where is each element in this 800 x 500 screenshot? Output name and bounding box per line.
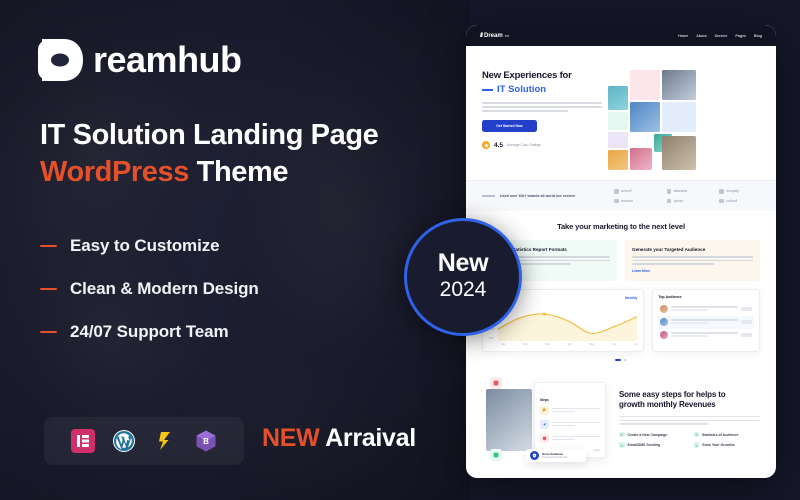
mockup-logo-cloud: Used over 10k+ brands all world our serv…	[466, 180, 776, 211]
rating-value: 4.5	[494, 142, 503, 149]
mockup-logo-text: Dream	[484, 33, 503, 39]
brand-grid: unicef takealot shopify nutone ipsite un…	[614, 189, 760, 203]
x-tick: Mar	[545, 343, 549, 346]
mockup-hero-paragraph	[482, 102, 602, 112]
headline-line-2: WordPress Theme	[40, 153, 450, 192]
flag-icon	[540, 406, 549, 415]
carousel-dot[interactable]	[624, 359, 627, 362]
marketing-cards: Audience Statistics Report Formats Learn…	[482, 240, 760, 281]
new-badge-top-text: New	[438, 250, 489, 276]
elementor-icon	[71, 429, 95, 453]
new-arraival-highlight: NEW	[262, 424, 319, 452]
mockup-logo-trademark: TM	[505, 34, 509, 38]
star-icon	[482, 141, 490, 149]
mosaic-color-tile	[608, 112, 628, 130]
get-started-button[interactable]: Get Started Now	[482, 120, 537, 132]
nav-item-about[interactable]: About	[696, 34, 706, 38]
feature-item: Clean & Modern Design	[40, 279, 259, 299]
feature-list: Easy to Customize Clean & Modern Design …	[40, 236, 259, 365]
wordpress-icon	[112, 429, 136, 453]
bootstrap-icon: B	[194, 429, 218, 453]
carousel-dot-active[interactable]	[615, 359, 621, 362]
mosaic-photo-tile	[630, 148, 652, 170]
chart-period-menu[interactable]: Monthly	[625, 296, 637, 300]
dreamhub-d-mark-icon	[38, 36, 84, 84]
nav-item-pages[interactable]: Pages	[735, 34, 746, 38]
poster-headline: IT Solution Landing Page WordPress Theme	[40, 118, 450, 192]
top-audience-card: Top Audience	[652, 289, 760, 352]
avatar	[660, 318, 668, 326]
y-tick: 500	[489, 338, 495, 341]
avatar	[660, 305, 668, 313]
checklist-label: Grow Your Growths	[702, 443, 735, 447]
x-tick: Jan	[501, 343, 505, 346]
brand-label: shopify	[726, 189, 739, 193]
mockup-hero-title-1: New Experiences for	[482, 70, 602, 82]
mockup-steps-section: Steps more	[466, 369, 776, 473]
get-started-label: Get Started Now	[496, 124, 522, 128]
audience-item-lines	[671, 332, 738, 338]
x-tick: Jul	[634, 343, 637, 346]
mockup-hero-left: New Experiences for IT Solution Get Star…	[482, 60, 602, 172]
feature-label: 24/07 Support Team	[70, 322, 229, 342]
feature-item: 24/07 Support Team	[40, 322, 259, 342]
mockup-logo-slash: ///	[480, 33, 482, 39]
mosaic-photo-tile	[608, 86, 628, 110]
chart-svg	[498, 303, 638, 341]
new-arraival-rest: Arraival	[319, 424, 415, 452]
check-icon	[694, 442, 700, 448]
mockup-navbar: /// Dream TM Home About Service Pages Bl…	[466, 25, 776, 46]
dash-icon	[40, 288, 57, 291]
grow-audience-badge: Grow Audience Track and Grow Results	[526, 449, 586, 462]
headline-line-1: IT Solution Landing Page	[40, 118, 450, 153]
headline-line-2-rest: Theme	[189, 156, 288, 188]
new-2024-badge: New 2024	[404, 218, 522, 336]
headline-highlight: WordPress	[40, 156, 189, 188]
marketing-section-title: Take your marketing to the next level	[482, 222, 760, 231]
steps-checklist: Create a New Campaign Statistics of Audi…	[619, 432, 760, 448]
mockup-hero-title-2: IT Solution	[482, 84, 602, 96]
brand-label: unicef	[621, 189, 632, 193]
steps-paragraph	[619, 416, 760, 425]
poster-canvas: reamhub IT Solution Landing Page WordPre…	[0, 0, 800, 500]
chart-plot	[498, 303, 638, 341]
audience-item-badge[interactable]	[741, 320, 752, 324]
audience-item-lines	[671, 306, 738, 312]
mosaic-color-tile	[608, 132, 628, 148]
marketing-card[interactable]: Generate your Targeted Audience Learn Mo…	[625, 240, 760, 281]
checklist-label: Email/SMS Sending	[628, 443, 661, 447]
marketing-widgets: Statistics Monthly 4000 3000 2000 1000 5…	[482, 289, 760, 352]
brand-logo-item: nutone	[614, 199, 655, 204]
shield-check-icon	[530, 451, 539, 460]
steps-row-lines	[552, 408, 600, 414]
audience-list-item[interactable]	[658, 316, 754, 329]
brand-logo-item: shopify	[719, 189, 760, 194]
carousel-dots[interactable]	[482, 359, 760, 362]
x-tick: Apr	[567, 343, 571, 346]
feature-label: Clean & Modern Design	[70, 279, 259, 299]
brand-logo: reamhub	[38, 36, 242, 84]
brand-label: unicef	[726, 199, 737, 203]
x-tick: Feb	[523, 343, 527, 346]
checklist-item: Grow Your Growths	[694, 442, 761, 448]
steps-card-row	[540, 420, 600, 429]
mosaic-photo-tile	[608, 150, 628, 170]
brand-logo-item: takealot	[667, 189, 708, 194]
mosaic-color-tile	[630, 70, 660, 100]
dash-icon	[40, 245, 57, 248]
grow-audience-sub: Track and Grow Results	[542, 456, 568, 459]
audience-item-lines	[671, 319, 738, 325]
chart-x-axis: Jan Feb Mar Apr May Jun Jul	[489, 343, 637, 346]
steps-card: Steps more	[534, 382, 606, 458]
feature-item: Easy to Customize	[40, 236, 259, 256]
marketing-card-title: Generate your Targeted Audience	[632, 247, 753, 252]
steps-card-row	[540, 434, 600, 443]
logo-cloud-caption-text: Used over 10k+ brands all world our serv…	[500, 194, 575, 198]
steps-row-lines	[552, 422, 600, 428]
mosaic-photo-tile	[662, 70, 696, 100]
mockup-hero-title-2-text: IT Solution	[497, 84, 546, 96]
checklist-label: Create a New Campaign	[628, 433, 668, 437]
mockup-hero: New Experiences for IT Solution Get Star…	[466, 46, 776, 180]
mosaic-photo-tile	[662, 136, 696, 170]
swiper-icon	[153, 429, 177, 453]
shield-icon	[540, 434, 549, 443]
tech-badge-bar: B	[44, 417, 244, 465]
grow-audience-text: Grow Audience Track and Grow Results	[542, 452, 568, 459]
mosaic-photo-tile	[630, 102, 660, 132]
steps-card-row	[540, 406, 600, 415]
audience-item-badge[interactable]	[741, 333, 752, 337]
new-arraival-label: NEW Arraival	[262, 424, 416, 453]
feature-label: Easy to Customize	[70, 236, 219, 256]
rocket-icon	[540, 420, 549, 429]
steps-row-lines	[552, 436, 600, 442]
checklist-label: Statistics of Audience	[702, 433, 738, 437]
brand-logo-text: reamhub	[93, 42, 242, 78]
audience-list-item[interactable]	[658, 303, 754, 316]
steps-visual: Steps more	[482, 377, 610, 461]
x-tick: Jun	[612, 343, 616, 346]
check-icon	[694, 432, 700, 438]
brand-label: ipsite	[674, 199, 683, 203]
steps-card-title: Steps	[540, 398, 549, 402]
brand-label: nutone	[621, 199, 633, 203]
steps-heading-2: growth monthly Revenues	[619, 400, 760, 410]
nav-item-blog[interactable]: Blog	[754, 34, 762, 38]
new-badge-year-text: 2024	[440, 276, 487, 303]
brand-logo-item: unicef	[614, 189, 655, 194]
mockup-logo[interactable]: /// Dream TM	[480, 33, 509, 39]
nav-item-service[interactable]: Service	[715, 34, 728, 38]
audience-list-title: Top Audience	[658, 295, 754, 299]
blue-dash-icon	[482, 89, 493, 90]
mosaic-color-tile	[662, 102, 696, 132]
brand-label: takealot	[674, 189, 688, 193]
steps-content: Some easy steps for helps to growth mont…	[619, 390, 760, 448]
audience-item-badge[interactable]	[741, 307, 752, 311]
mockup-hero-mosaic	[608, 60, 766, 172]
steps-photo	[486, 389, 532, 451]
brand-logo-item: unicef	[719, 199, 760, 204]
checklist-item: Email/SMS Sending	[619, 442, 686, 448]
checklist-item: Statistics of Audience	[694, 432, 761, 438]
audience-list-item[interactable]	[658, 329, 754, 342]
alert-badge-icon	[490, 377, 502, 389]
mockup-nav-items: Home About Service Pages Blog	[678, 34, 762, 38]
rating-caption: Average Cust. Ratings	[507, 143, 541, 147]
svg-text:B: B	[203, 437, 209, 446]
brand-logo-item: ipsite	[667, 199, 708, 204]
avatar	[660, 331, 668, 339]
mockup-rating: 4.5 Average Cust. Ratings	[482, 141, 602, 149]
dash-icon	[482, 195, 495, 196]
nav-item-home[interactable]: Home	[678, 34, 688, 38]
success-badge-icon	[490, 449, 502, 461]
steps-heading-1: Some easy steps for helps to	[619, 390, 760, 400]
check-icon	[619, 442, 625, 448]
left-content-panel: reamhub IT Solution Landing Page WordPre…	[0, 0, 470, 500]
checklist-item: Create a New Campaign	[619, 432, 686, 438]
dash-icon	[40, 331, 57, 334]
check-icon	[619, 432, 625, 438]
marketing-card-link[interactable]: Learn More	[632, 269, 753, 273]
logo-cloud-caption: Used over 10k+ brands all world our serv…	[482, 194, 600, 198]
x-tick: May	[589, 343, 594, 346]
